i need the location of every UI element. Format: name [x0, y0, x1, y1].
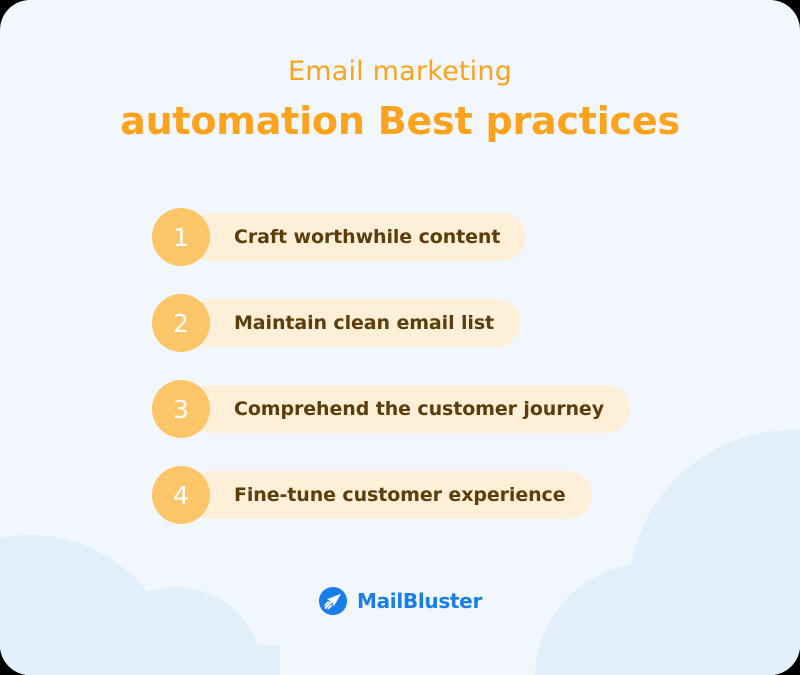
poster-header: Email marketing automation Best practice… — [0, 58, 800, 140]
page-title: automation Best practices — [0, 102, 800, 140]
list-item: 4 Fine-tune customer experience — [152, 466, 712, 524]
bottom-left-cloud-base — [0, 645, 280, 675]
list-item-number-badge: 3 — [152, 380, 210, 438]
list-item-label: Fine-tune customer experience — [188, 471, 592, 519]
list-item-label: Craft worthwhile content — [188, 213, 526, 261]
infographic-poster: Email marketing automation Best practice… — [0, 0, 800, 675]
list-item: 1 Craft worthwhile content — [152, 208, 712, 266]
header-kicker: Email marketing — [0, 58, 800, 85]
best-practices-list: 1 Craft worthwhile content 2 Maintain cl… — [152, 208, 712, 524]
list-item-label: Maintain clean email list — [188, 299, 520, 347]
list-item: 2 Maintain clean email list — [152, 294, 712, 352]
list-item: 3 Comprehend the customer journey — [152, 380, 712, 438]
bottom-right-cloud-base — [600, 630, 800, 675]
bottom-right-cloud-puff-2 — [535, 563, 765, 675]
brand-logo: MailBluster — [0, 586, 800, 616]
list-item-number-badge: 1 — [152, 208, 210, 266]
brand-name: MailBluster — [357, 591, 482, 611]
mailbluster-paper-plane-icon — [318, 586, 348, 616]
list-item-label: Comprehend the customer journey — [188, 385, 630, 433]
list-item-number-badge: 4 — [152, 466, 210, 524]
list-item-number-badge: 2 — [152, 294, 210, 352]
